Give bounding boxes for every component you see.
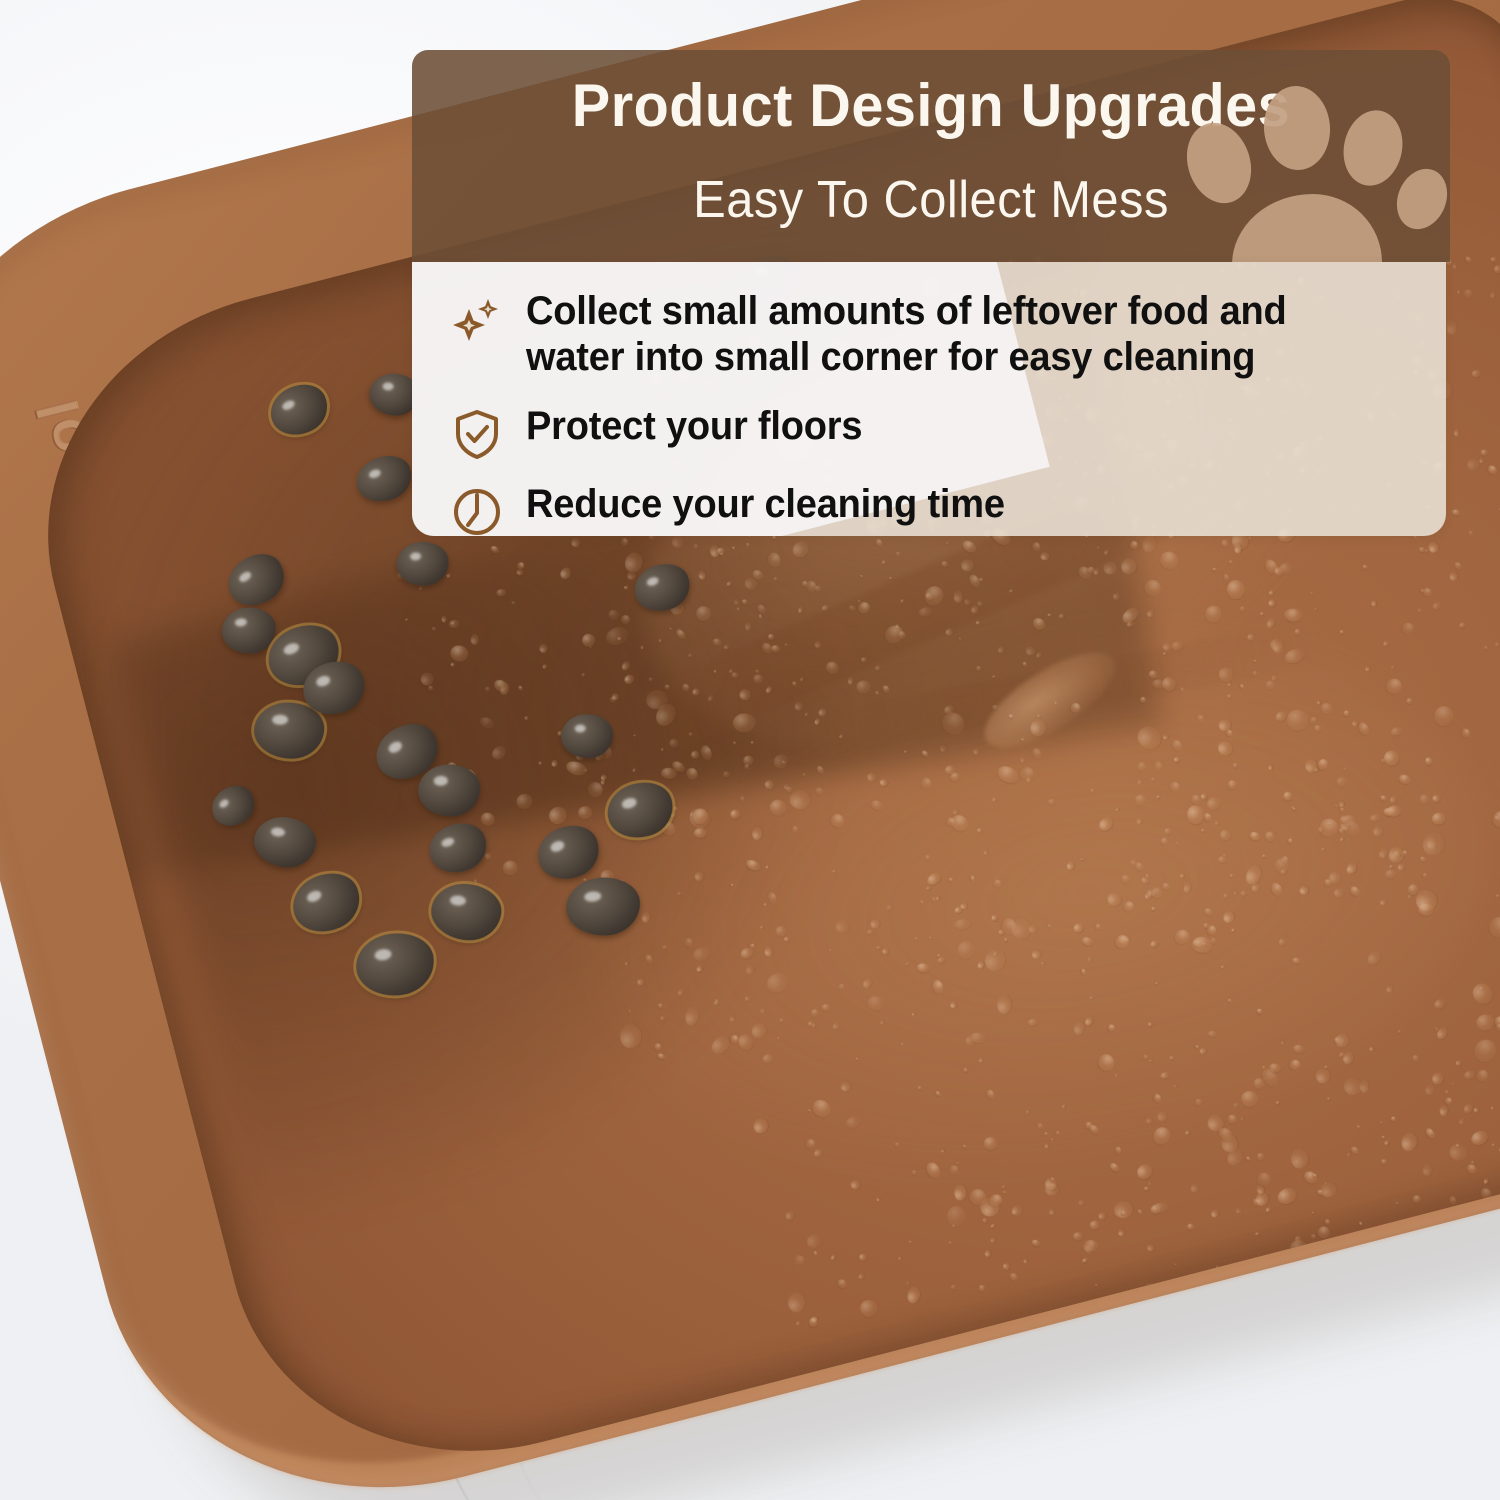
water-droplet [1198, 1046, 1206, 1055]
water-droplet [1410, 1194, 1421, 1205]
water-droplet [1328, 823, 1332, 826]
kibble-glint [305, 889, 323, 904]
water-droplet [1255, 1191, 1270, 1207]
water-droplet [1141, 875, 1151, 885]
water-droplet [1106, 1023, 1116, 1033]
water-droplet [1083, 1239, 1095, 1253]
water-droplet [1217, 717, 1232, 732]
water-droplet [1343, 709, 1350, 716]
water-droplet [1136, 761, 1147, 773]
water-droplet [1218, 855, 1228, 864]
water-droplet [1339, 818, 1350, 831]
water-droplet [1309, 1234, 1316, 1241]
water-droplet [1444, 1097, 1453, 1105]
water-droplet [1345, 861, 1358, 876]
water-droplet [979, 1196, 1002, 1219]
water-droplet [1232, 763, 1238, 769]
water-droplet [997, 994, 1011, 1013]
water-droplet [1047, 924, 1052, 929]
water-droplet [1494, 816, 1500, 821]
water-droplet [1233, 891, 1237, 895]
kibble-glint [549, 840, 565, 854]
water-droplet [1379, 794, 1388, 802]
water-droplet [1234, 543, 1241, 553]
water-droplet [1272, 641, 1286, 654]
water-droplet [957, 1161, 960, 1163]
water-droplet [1464, 256, 1472, 264]
water-droplet [1000, 916, 1018, 937]
water-droplet [1214, 820, 1219, 825]
water-droplet [1246, 1156, 1252, 1161]
water-droplet [977, 961, 985, 970]
water-droplet [1049, 1209, 1055, 1215]
feature-item-collect: Collect small amounts of leftover food a… [448, 288, 1416, 381]
water-droplet [1385, 804, 1402, 818]
water-droplet [1136, 1209, 1143, 1216]
product-marketing-image: Sinfool Product Design Upgrades Easy To … [0, 0, 1500, 1500]
water-droplet [1152, 1093, 1162, 1104]
water-droplet [1444, 1089, 1450, 1095]
water-droplet [1185, 1129, 1191, 1135]
water-droplet [1134, 1161, 1156, 1183]
water-droplet [1347, 1152, 1350, 1156]
water-droplet [1078, 1198, 1086, 1206]
water-droplet [1170, 738, 1184, 753]
water-droplet [1308, 716, 1317, 725]
feature-panel: Collect small amounts of leftover food a… [412, 262, 1446, 536]
water-droplet [1150, 1204, 1161, 1214]
water-droplet [1269, 1063, 1282, 1073]
paw-toe [1388, 161, 1450, 236]
water-droplet [1089, 1220, 1101, 1231]
water-droplet [919, 899, 925, 905]
water-droplet [1324, 1180, 1327, 1183]
water-droplet [1188, 1224, 1195, 1230]
water-droplet [1365, 948, 1383, 967]
water-droplet [893, 1142, 899, 1148]
water-droplet [1146, 608, 1154, 618]
water-droplet [948, 812, 972, 835]
water-droplet [1118, 1231, 1122, 1235]
water-droplet [1153, 761, 1164, 773]
water-droplet [1137, 778, 1142, 784]
water-droplet [1363, 565, 1369, 570]
water-droplet [1495, 1022, 1500, 1032]
water-droplet [987, 1192, 1004, 1209]
water-droplet [1397, 773, 1411, 786]
kibble-glint [621, 796, 638, 810]
water-droplet [1422, 1164, 1432, 1177]
water-droplet [1168, 780, 1181, 793]
water-droplet [970, 874, 976, 881]
water-droplet [1389, 864, 1394, 869]
water-droplet [1491, 1107, 1494, 1110]
water-droplet [1396, 1202, 1399, 1204]
water-droplet [1216, 1125, 1235, 1143]
paw-pad [1232, 194, 1382, 262]
water-droplet [1342, 1050, 1355, 1065]
water-droplet [1240, 890, 1248, 897]
water-droplet [1486, 914, 1500, 942]
water-droplet [1133, 861, 1145, 873]
water-droplet [1427, 540, 1439, 553]
water-droplet [1044, 1132, 1049, 1137]
water-droplet [1490, 291, 1496, 299]
water-droplet [1205, 1114, 1225, 1133]
water-droplet [1027, 1017, 1038, 1026]
water-droplet [1032, 949, 1042, 959]
kibble-glint [281, 398, 296, 411]
paw-toe [1337, 105, 1410, 191]
water-droplet [1210, 1209, 1218, 1218]
water-droplet [1205, 794, 1223, 811]
water-droplet [1009, 1204, 1024, 1219]
water-droplet [1378, 847, 1390, 860]
water-droplet [1036, 1122, 1044, 1130]
water-droplet [1195, 1045, 1199, 1049]
water-droplet [1385, 1139, 1390, 1144]
feature-label: Reduce your cleaning time [526, 481, 1005, 527]
water-droplet [1490, 257, 1497, 264]
water-droplet [1264, 1206, 1271, 1213]
water-droplet [1270, 832, 1273, 836]
water-droplet [1195, 1098, 1204, 1107]
water-droplet [985, 1089, 996, 1101]
water-droplet [1339, 836, 1344, 841]
water-droplet [1084, 1238, 1100, 1253]
water-droplet [808, 1316, 820, 1329]
water-droplet [1492, 1143, 1497, 1147]
water-droplet [1446, 1140, 1470, 1164]
water-droplet [1065, 860, 1075, 871]
water-droplet [1398, 1031, 1401, 1034]
water-droplet [1348, 884, 1361, 897]
water-droplet [1469, 980, 1496, 1008]
water-droplet [1420, 589, 1425, 594]
water-droplet [1260, 613, 1264, 616]
water-droplet [898, 1255, 901, 1259]
water-droplet [1483, 644, 1489, 650]
water-droplet [1386, 845, 1407, 866]
water-droplet [1452, 509, 1462, 517]
water-droplet [1314, 725, 1321, 732]
water-droplet [1283, 646, 1306, 665]
water-droplet [1028, 923, 1038, 934]
water-droplet [1118, 1228, 1126, 1237]
water-droplet [1207, 1030, 1218, 1038]
water-droplet [1481, 449, 1488, 456]
water-droplet [1316, 1189, 1325, 1197]
water-droplet [1202, 906, 1213, 916]
water-droplet [1265, 616, 1276, 629]
water-droplet [1169, 1056, 1175, 1061]
water-droplet [1230, 874, 1234, 877]
water-droplet [1471, 1161, 1475, 1165]
water-droplet [930, 979, 944, 995]
water-droplet [1489, 807, 1500, 830]
water-droplet [1479, 986, 1484, 991]
water-droplet [1261, 1065, 1266, 1070]
water-droplet [1262, 854, 1266, 857]
water-droplet [946, 1206, 967, 1228]
water-droplet [1339, 807, 1344, 812]
water-droplet [1312, 1174, 1317, 1178]
water-droplet [1451, 1081, 1455, 1085]
water-droplet [1459, 1117, 1466, 1125]
water-droplet [1141, 577, 1164, 600]
water-droplet [1239, 683, 1244, 689]
water-droplet [959, 902, 967, 909]
water-droplet [1163, 734, 1168, 740]
water-droplet [954, 905, 964, 915]
water-droplet [955, 1184, 967, 1200]
water-droplet [990, 1237, 995, 1243]
water-droplet [1240, 1089, 1259, 1107]
kibble-glint [237, 570, 252, 584]
water-droplet [1160, 1070, 1171, 1079]
water-droplet [1293, 1044, 1306, 1053]
water-droplet [1294, 1236, 1302, 1244]
water-droplet [1163, 651, 1168, 656]
kibble-glint [315, 675, 331, 688]
water-droplet [1278, 938, 1287, 947]
water-droplet [1287, 1058, 1302, 1072]
kibble-piece [254, 702, 324, 759]
water-droplet [1149, 939, 1159, 948]
kibble-glint [374, 948, 393, 962]
water-droplet [1030, 746, 1044, 761]
water-droplet [978, 1057, 984, 1064]
water-droplet [858, 1298, 879, 1319]
water-droplet [1382, 748, 1402, 768]
water-droplet [1275, 1100, 1280, 1104]
water-droplet [911, 1169, 917, 1175]
water-droplet [1426, 757, 1433, 765]
water-droplet [1339, 813, 1350, 824]
water-droplet [1203, 603, 1223, 624]
water-droplet [1464, 1069, 1476, 1080]
water-droplet [1272, 857, 1291, 876]
water-droplet [1305, 760, 1317, 773]
water-droplet [1148, 1021, 1153, 1026]
water-droplet [1356, 721, 1371, 738]
water-droplet [1473, 1067, 1490, 1084]
water-droplet [1256, 1152, 1265, 1161]
water-droplet [1461, 288, 1474, 301]
water-droplet [1202, 812, 1213, 823]
water-droplet [1081, 935, 1095, 947]
water-droplet [967, 1186, 989, 1208]
water-droplet [1051, 1138, 1054, 1141]
water-droplet [1180, 687, 1185, 693]
water-droplet [1266, 680, 1275, 690]
water-droplet [1085, 1121, 1094, 1130]
water-droplet [1226, 1113, 1239, 1126]
sparkle-icon [448, 294, 506, 352]
water-droplet [1327, 869, 1344, 886]
water-droplet [1215, 738, 1236, 758]
water-droplet [990, 1223, 996, 1229]
water-droplet [934, 1090, 942, 1098]
water-droplet [909, 1240, 913, 1244]
water-droplet [925, 870, 943, 887]
water-droplet [1047, 1182, 1057, 1192]
water-droplet [1316, 815, 1342, 841]
water-droplet [1338, 1051, 1346, 1058]
water-droplet [1333, 1030, 1352, 1049]
water-droplet [990, 914, 998, 922]
water-droplet [813, 1251, 818, 1257]
water-droplet [1157, 1110, 1169, 1122]
water-droplet [1372, 601, 1377, 607]
water-droplet [1465, 1163, 1478, 1176]
water-droplet [941, 1149, 944, 1152]
water-droplet [1424, 1126, 1437, 1140]
water-droplet [1486, 464, 1499, 477]
water-droplet [936, 896, 939, 900]
water-droplet [1125, 936, 1131, 942]
water-droplet [1480, 457, 1484, 463]
water-droplet [1317, 701, 1320, 705]
water-droplet [1256, 1185, 1265, 1196]
kibble-glint [440, 836, 455, 849]
water-droplet [1184, 882, 1193, 894]
water-droplet [1254, 1232, 1260, 1237]
water-droplet [1179, 873, 1186, 880]
water-droplet [1335, 804, 1339, 808]
water-droplet [1416, 890, 1438, 912]
water-droplet [1407, 894, 1413, 900]
water-droplet [1430, 1071, 1445, 1086]
water-droplet [1385, 985, 1393, 993]
water-droplet [1268, 635, 1285, 652]
water-droplet [1259, 1065, 1281, 1089]
feature-label: Collect small amounts of leftover food a… [526, 288, 1372, 381]
water-droplet [1160, 837, 1170, 846]
water-droplet [1192, 938, 1204, 947]
water-droplet [1427, 835, 1437, 849]
water-droplet [1359, 1221, 1364, 1226]
water-droplet [1469, 1128, 1490, 1147]
water-droplet [948, 877, 954, 883]
water-droplet [1253, 659, 1257, 663]
kibble-glint [235, 618, 248, 628]
paw-print-icon [1184, 72, 1434, 262]
water-droplet [1315, 1069, 1330, 1084]
water-droplet [1418, 903, 1435, 916]
water-droplet [1048, 799, 1055, 805]
water-droplet [1275, 1186, 1298, 1208]
water-droplet [1324, 1218, 1332, 1226]
water-droplet [1160, 674, 1178, 692]
water-droplet [1447, 1195, 1457, 1206]
water-droplet [1253, 1078, 1265, 1090]
water-droplet [1018, 765, 1035, 781]
water-droplet [1271, 674, 1279, 682]
water-droplet [1332, 886, 1346, 899]
water-droplet [1380, 898, 1387, 906]
water-droplet [796, 1320, 802, 1327]
water-droplet [1393, 846, 1403, 858]
water-droplet [1061, 1103, 1066, 1108]
water-droplet [1385, 868, 1399, 880]
water-droplet [1285, 607, 1302, 624]
water-droplet [1087, 954, 1093, 961]
water-droplet [1406, 698, 1413, 704]
water-droplet [1335, 775, 1348, 788]
water-droplet [1026, 1110, 1029, 1113]
water-droplet [1009, 916, 1034, 941]
water-droplet [1221, 965, 1225, 969]
water-droplet [1212, 568, 1217, 571]
water-droplet [931, 896, 938, 903]
water-droplet [950, 1001, 957, 1009]
water-droplet [1081, 857, 1085, 860]
water-droplet [1151, 907, 1156, 912]
shield-check-icon [448, 405, 506, 463]
water-droplet [983, 1137, 998, 1151]
water-droplet [1411, 1054, 1420, 1063]
water-droplet [805, 1137, 817, 1149]
water-droplet [958, 940, 976, 959]
water-droplet [1471, 369, 1481, 378]
water-droplet [998, 928, 1006, 935]
water-droplet [1470, 1036, 1500, 1067]
water-droplet [1120, 874, 1131, 885]
water-droplet [858, 1253, 868, 1263]
kibble-glint [367, 468, 381, 480]
water-droplet [1202, 942, 1207, 946]
water-droplet [1440, 1105, 1448, 1116]
water-droplet [1144, 892, 1152, 900]
water-droplet [1458, 621, 1466, 628]
water-droplet [1255, 1007, 1263, 1014]
water-droplet [1268, 589, 1275, 596]
water-droplet [1251, 1197, 1261, 1207]
water-droplet [950, 1285, 957, 1290]
water-droplet [1356, 1124, 1361, 1128]
water-droplet [1382, 641, 1389, 648]
water-droplet [1113, 1200, 1134, 1220]
water-droplet [1418, 855, 1426, 862]
kibble-glint [450, 895, 466, 906]
water-droplet [948, 1164, 959, 1175]
water-droplet [1173, 757, 1180, 764]
water-droplet [1339, 629, 1344, 634]
water-droplet [1389, 726, 1403, 737]
water-droplet [1004, 938, 1008, 942]
kibble-glint [218, 798, 230, 809]
water-droplet [1327, 1096, 1332, 1101]
water-droplet [1292, 957, 1302, 965]
water-droplet [1225, 729, 1234, 738]
water-droplet [1407, 883, 1420, 896]
water-droplet [1418, 546, 1425, 552]
water-droplet [1221, 538, 1231, 548]
water-droplet [1050, 1177, 1055, 1181]
water-droplet [1321, 847, 1325, 851]
water-droplet [1384, 808, 1395, 816]
water-droplet [1283, 791, 1293, 801]
water-droplet [1473, 1106, 1480, 1113]
kibble-glint [282, 641, 301, 657]
water-droplet [1302, 1169, 1320, 1186]
water-droplet [1148, 1181, 1152, 1185]
water-droplet [1026, 776, 1032, 783]
water-droplet [995, 763, 1021, 786]
water-droplet [906, 1286, 921, 1305]
water-droplet [1121, 1210, 1126, 1215]
